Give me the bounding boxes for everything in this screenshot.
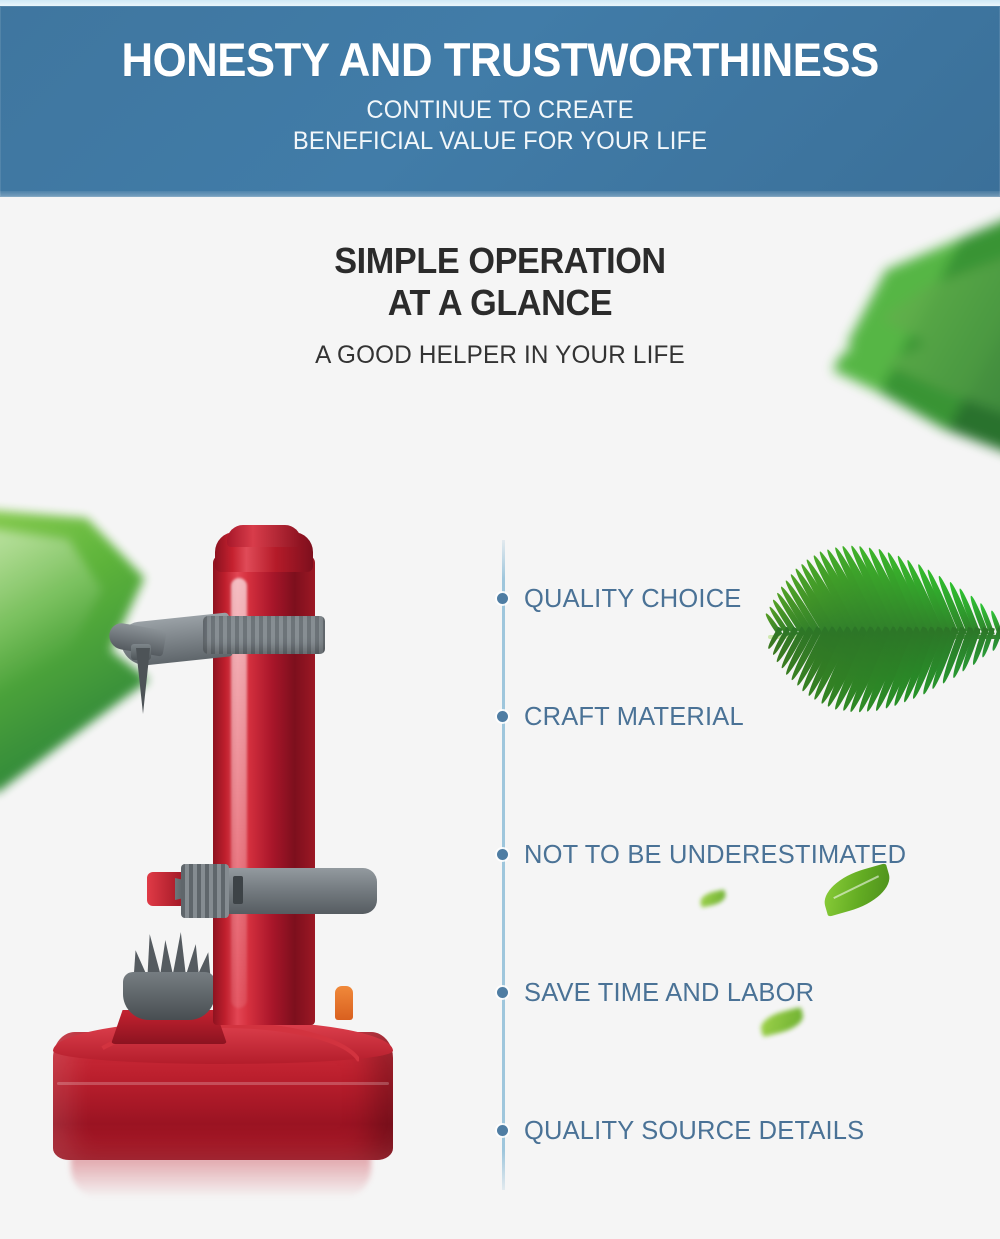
spike-hub xyxy=(123,972,215,1020)
frond-leaflet xyxy=(775,591,807,636)
product-collar xyxy=(203,616,325,654)
frond-leaflet xyxy=(792,567,838,637)
frond-leaflet xyxy=(960,627,981,672)
frond-leaflet xyxy=(811,626,854,702)
frond-leaflet xyxy=(968,595,988,636)
frond-leaflet xyxy=(904,558,945,637)
section-subheading: A GOOD HELPER IN YOUR LIFE xyxy=(15,341,985,370)
bullet-dot-icon xyxy=(497,1125,508,1136)
frond-leaflet xyxy=(779,585,815,637)
frond-leaflet xyxy=(865,545,915,636)
leaf-blade xyxy=(810,205,1000,465)
feature-label: QUALITY CHOICE xyxy=(524,583,741,614)
feature-label: CRAFT MATERIAL xyxy=(524,701,744,732)
frond-leaflet xyxy=(874,547,922,636)
hero-banner: HONESTY AND TRUSTWORTHINESS CONTINUE TO … xyxy=(0,6,1000,197)
frond-leaflet xyxy=(925,568,959,636)
spike-head-icon xyxy=(127,930,213,978)
frond-leaflet xyxy=(920,627,952,696)
frond-leaflet xyxy=(784,626,815,675)
frond-leaflet xyxy=(881,626,922,710)
feature-label: NOT TO BE UNDERESTIMATED xyxy=(524,839,906,870)
bullet-dot-icon xyxy=(497,711,508,722)
frond-leaflet xyxy=(910,627,945,701)
bullet-dot-icon xyxy=(497,593,508,604)
banner-title: HONESTY AND TRUSTWORTHINESS xyxy=(121,36,878,83)
section-heading-line-1: SIMPLE OPERATION xyxy=(25,240,975,282)
frond-leaflet xyxy=(894,554,938,637)
frond-leaflet xyxy=(794,626,831,687)
frond-leaflet xyxy=(810,553,862,637)
feature-label: QUALITY SOURCE DETAILS xyxy=(524,1115,864,1146)
frond-leaflet xyxy=(764,612,783,636)
frond-leaflet xyxy=(816,550,869,637)
product-base-seam xyxy=(57,1082,389,1085)
product-reflection xyxy=(71,1156,371,1198)
banner-subtitle-line-2: BENEFICIAL VALUE FOR YOUR LIFE xyxy=(293,126,707,157)
frond-leaflet xyxy=(824,626,869,708)
section-heading-block: SIMPLE OPERATION AT A GLANCE A GOOD HELP… xyxy=(0,240,1000,370)
product-image xyxy=(35,520,455,1180)
frond-leaflet xyxy=(767,605,790,636)
feature-item-5[interactable]: QUALITY SOURCE DETAILS xyxy=(480,1112,871,1148)
section-heading-line-2: AT A GLANCE xyxy=(25,282,975,324)
banner-subtitle: CONTINUE TO CREATE BENEFICIAL VALUE FOR … xyxy=(293,95,707,156)
frond-leaflet xyxy=(856,544,908,637)
frond-leaflet xyxy=(839,544,893,637)
frond-leaflet xyxy=(831,545,885,637)
frond-leaflet xyxy=(915,563,953,637)
frond-leaflet xyxy=(779,626,806,669)
frond-leaflet xyxy=(979,602,996,636)
frond-leaflet xyxy=(771,598,799,636)
frond-leaflet xyxy=(872,626,915,712)
frond-leaflet xyxy=(950,627,974,679)
frond-leaflet xyxy=(839,626,885,713)
frond-leaflet xyxy=(991,627,1000,651)
leaf-blade-highlight xyxy=(833,231,1000,439)
feature-item-1[interactable]: QUALITY CHOICE xyxy=(480,580,746,616)
product-cap-top xyxy=(227,525,301,547)
palm-frond-icon xyxy=(758,512,1000,744)
frond-leaflet xyxy=(766,627,782,650)
frond-leaflet xyxy=(832,626,878,711)
feature-item-4[interactable]: SAVE TIME AND LABOR xyxy=(480,974,820,1010)
frond-leaflet xyxy=(789,626,823,681)
promo-page: HONESTY AND TRUSTWORTHINESS CONTINUE TO … xyxy=(0,0,1000,1239)
frond-leaflet xyxy=(775,627,799,664)
frond-leaflet xyxy=(891,626,931,707)
frond-leaflet xyxy=(884,550,930,637)
frond-leaflet xyxy=(981,627,996,658)
frond-leaflet xyxy=(798,562,846,637)
blade-grip xyxy=(181,864,229,918)
banner-subtitle-line-1: CONTINUE TO CREATE xyxy=(293,95,707,126)
power-switch xyxy=(335,986,353,1020)
floating-leaf-icon xyxy=(758,1007,806,1037)
frond-leaflet xyxy=(799,626,838,692)
frond-leaflet xyxy=(936,574,967,636)
frond-leaflet xyxy=(900,626,937,704)
frond-leaflet xyxy=(864,626,908,713)
frond-leaflet xyxy=(847,626,893,713)
banana-leaf-icon xyxy=(810,205,1000,465)
feature-item-3[interactable]: NOT TO BE UNDERESTIMATED xyxy=(480,836,914,872)
frond-leaflet xyxy=(824,547,878,637)
frond-leaflet xyxy=(787,572,830,636)
frond-leaflet xyxy=(971,627,989,665)
frond-stem xyxy=(768,635,1000,639)
frond-leaflet xyxy=(989,610,1000,636)
frond-leaflet xyxy=(940,627,967,685)
frond-leaflet xyxy=(770,627,790,657)
feature-label: SAVE TIME AND LABOR xyxy=(524,977,814,1008)
frond-leaflet xyxy=(957,588,981,636)
bullet-dot-icon xyxy=(497,987,508,998)
frond-leaflet xyxy=(855,626,900,714)
frond-leaflet xyxy=(930,627,960,691)
blade-slot xyxy=(233,876,243,904)
frond-leaflet xyxy=(947,581,975,636)
floating-leaf-icon xyxy=(699,889,727,907)
frond-leaflet xyxy=(805,626,846,697)
needle-icon xyxy=(136,648,150,714)
bullet-dot-icon xyxy=(497,849,508,860)
frond-leaflet xyxy=(847,544,900,637)
feature-item-2[interactable]: CRAFT MATERIAL xyxy=(480,698,748,734)
frond-leaflet xyxy=(818,626,862,705)
frond-leaflet xyxy=(783,578,823,636)
frond-leaflet xyxy=(804,557,854,637)
